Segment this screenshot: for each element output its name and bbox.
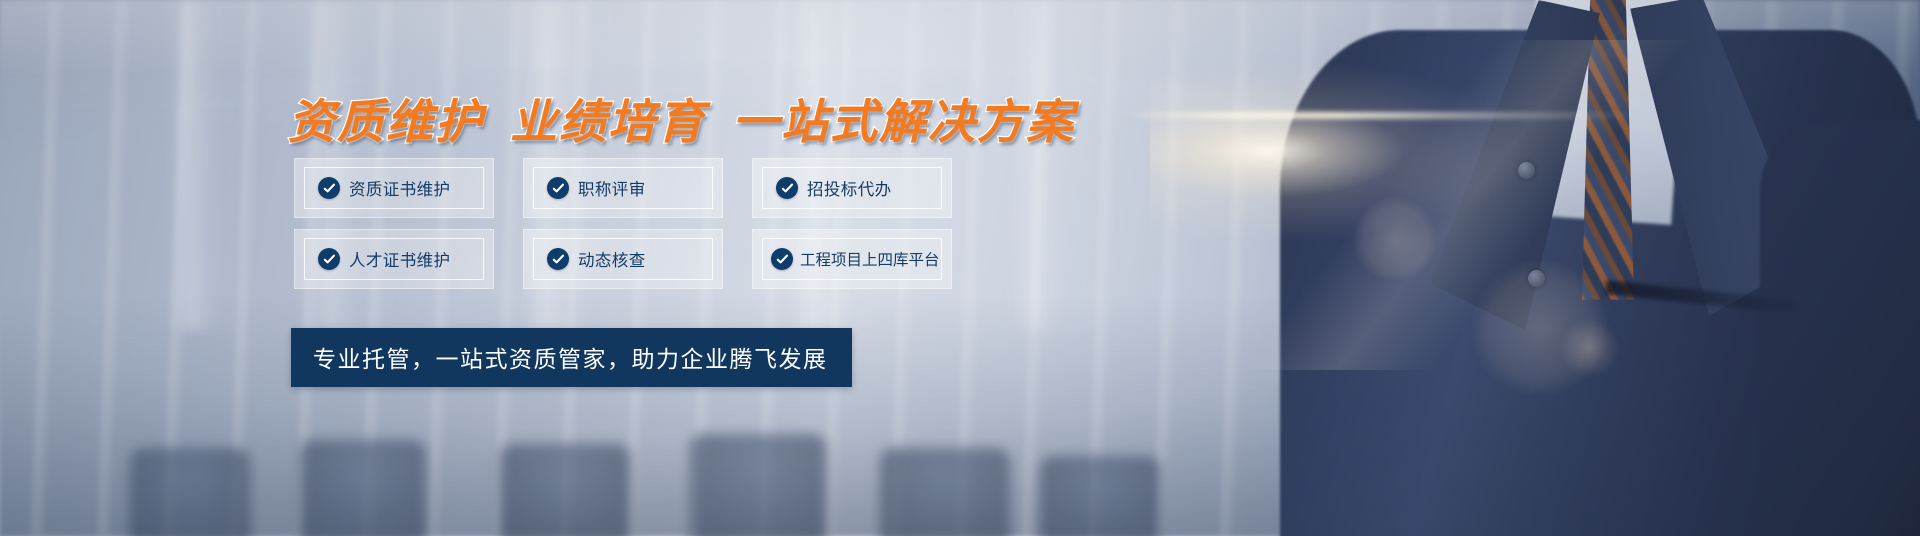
- check-circle-icon: [318, 248, 340, 270]
- feature-card-bidding-agency[interactable]: 招投标代办: [752, 158, 952, 218]
- feature-card-label: 人才证书维护: [349, 247, 450, 271]
- check-circle-icon: [547, 177, 569, 199]
- feature-card-label: 资质证书维护: [349, 176, 450, 200]
- headline-part-3: 一站式解决方案: [732, 95, 1075, 148]
- banner-tagline: 专业托管，一站式资质管家，助力企业腾飞发展: [291, 328, 852, 387]
- check-circle-icon: [547, 248, 569, 270]
- feature-card-label: 动态核查: [578, 247, 646, 271]
- feature-card-grid: 资质证书维护 职称评审 招投标代办: [294, 158, 952, 289]
- feature-card-title-evaluation[interactable]: 职称评审: [523, 158, 723, 218]
- headline-part-1: 资质维护: [288, 95, 484, 148]
- feature-card-label: 招投标代办: [807, 176, 892, 200]
- banner-content: 资质维护业绩培育一站式解决方案 资质证书维护 职称评审: [0, 0, 1100, 536]
- feature-card-label: 工程项目上四库平台: [800, 248, 940, 270]
- feature-card-label: 职称评审: [578, 176, 646, 200]
- feature-card-four-database-platform[interactable]: 工程项目上四库平台: [752, 229, 952, 289]
- feature-card-talent-certificate[interactable]: 人才证书维护: [294, 229, 494, 289]
- check-circle-icon: [318, 177, 340, 199]
- feature-card-qualification-certificate[interactable]: 资质证书维护: [294, 158, 494, 218]
- feature-card-dynamic-inspection[interactable]: 动态核查: [523, 229, 723, 289]
- check-circle-icon: [771, 248, 793, 270]
- background-businessman: [1100, 0, 1920, 536]
- promotional-banner: 资质维护业绩培育一站式解决方案 资质证书维护 职称评审: [0, 0, 1920, 536]
- banner-headline: 资质维护业绩培育一站式解决方案: [288, 83, 1075, 152]
- check-circle-icon: [776, 177, 798, 199]
- headline-part-2: 业绩培育: [510, 95, 706, 148]
